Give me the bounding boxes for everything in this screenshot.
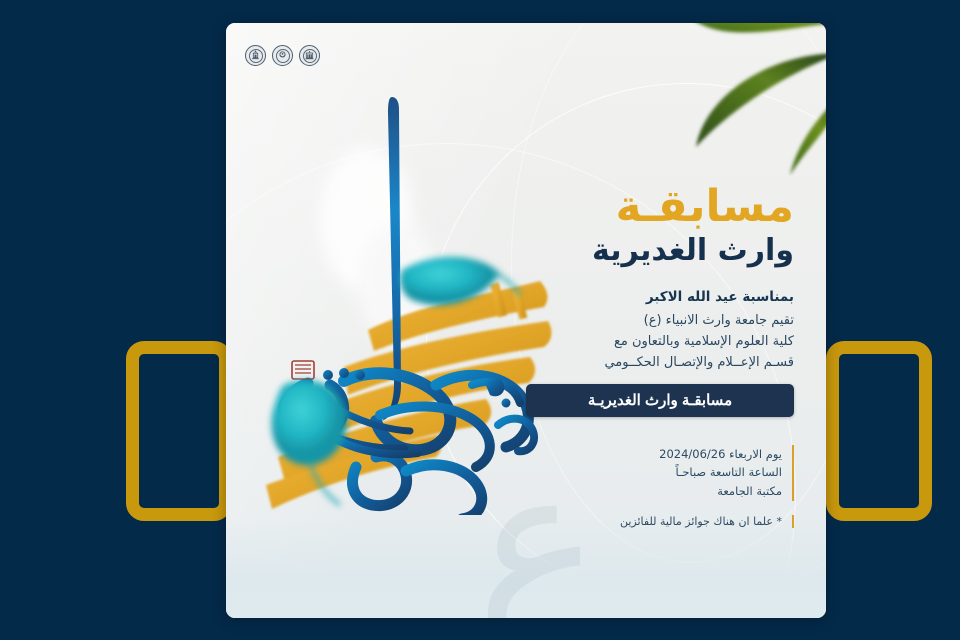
competition-badge-button[interactable]: مسابقـة وارث الغديريـة [526, 384, 794, 417]
page-subtitle: وارث الغديرية [526, 233, 794, 269]
logo-strip [245, 45, 320, 66]
event-date: يوم الاربعاء 2024/06/26 [526, 445, 782, 464]
event-details-block: يوم الاربعاء 2024/06/26 الساعة التاسعة ص… [526, 445, 794, 501]
page-title: مسابقـة [526, 183, 794, 231]
university-emblem-icon [245, 45, 266, 66]
description-line-3: قسـم الإعــلام والإتصـال الحكــومي [526, 352, 794, 373]
description-line-1: تقيم جامعة وارث الانبياء (ع) [526, 310, 794, 331]
event-time: الساعة التاسعة صباحـاً [526, 463, 782, 482]
prize-note: * علما ان هناك جوائز مالية للفائزين [526, 515, 794, 528]
poster-card: ع [226, 23, 826, 618]
olive-leaves-decoration [584, 23, 826, 180]
event-location: مكتبة الجامعة [526, 482, 782, 501]
college-emblem-icon [272, 45, 293, 66]
decorative-frame-right [826, 341, 932, 521]
poster-text-column: مسابقـة وارث الغديرية بمناسبة عيد الله ا… [526, 183, 794, 528]
occasion-line: بمناسبة عيد الله الاكبر [526, 287, 794, 307]
decorative-frame-left [126, 341, 232, 521]
card-bottom-band [226, 518, 826, 618]
description-line-2: كلية العلوم الإسلامية وبالتعاون مع [526, 331, 794, 352]
department-emblem-icon [299, 45, 320, 66]
